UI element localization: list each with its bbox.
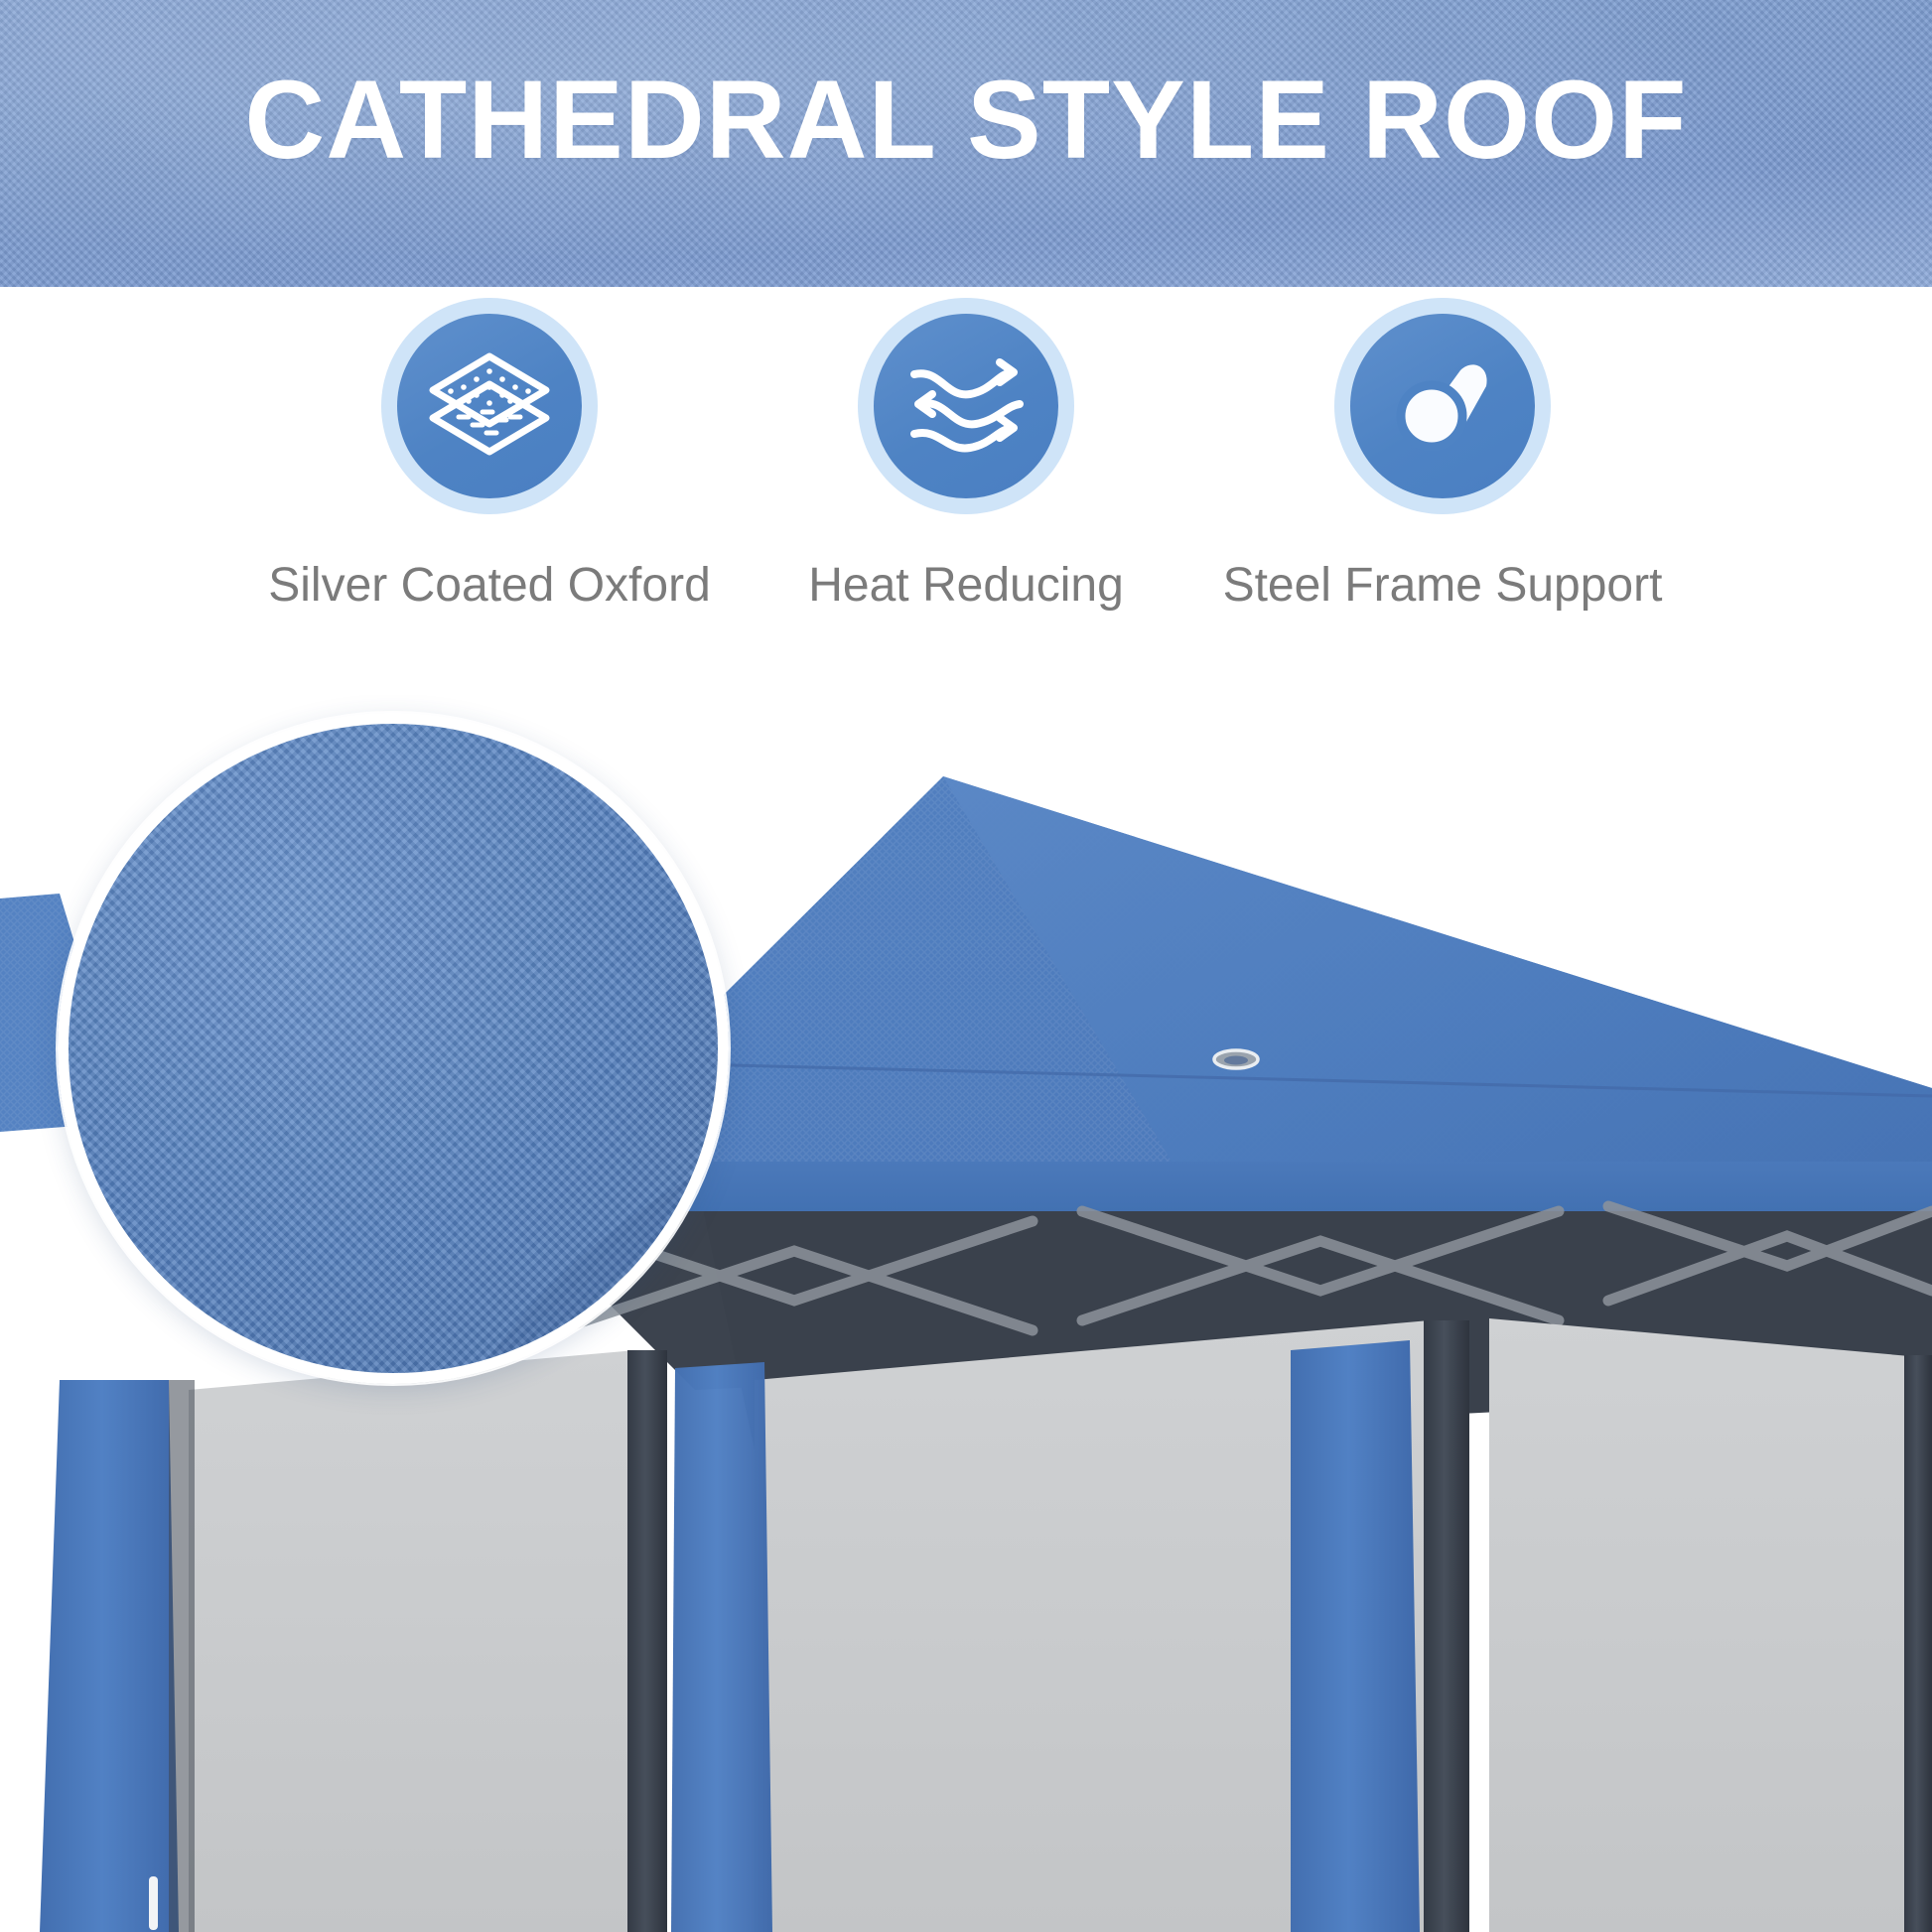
feature-label: Silver Coated Oxford [268,558,711,613]
feature-icon-disc [397,314,582,498]
header-banner: CATHEDRAL STYLE ROOF [0,0,1932,287]
feature-icon-ring [381,298,598,514]
feature-icon-ring [858,298,1074,514]
roof-vent-grommet-icon [1214,1050,1258,1069]
product-feature-graphic: CATHEDRAL STYLE ROOF [0,0,1932,1932]
canopy-roof [556,776,1932,1211]
grommet-eyelet-icon [241,970,729,1384]
feature-highlights-row: Silver Coated Oxford [0,298,1932,695]
feature-item-heat-reducing: Heat Reducing [728,298,1204,613]
airflow-waves-icon [900,352,1032,461]
feature-label: Steel Frame Support [1223,558,1663,613]
feature-item-silver-coated-oxford: Silver Coated Oxford [251,298,728,613]
feature-icon-disc [1350,314,1535,498]
feature-label: Heat Reducing [808,558,1124,613]
feature-item-steel-frame-support: Steel Frame Support [1204,298,1681,613]
feature-icon-disc [874,314,1058,498]
product-photo [0,695,1932,1932]
zipper-pull-icon [149,1876,158,1930]
feature-icon-ring [1334,298,1551,514]
grommet-closeup [241,970,549,1169]
page-title: CATHEDRAL STYLE ROOF [0,62,1932,179]
mesh-netting-panels [189,1318,1932,1932]
steel-tube-icon [1383,345,1502,469]
grommet-detail-magnifier [58,713,729,1384]
layered-fabric-icon [425,346,554,467]
